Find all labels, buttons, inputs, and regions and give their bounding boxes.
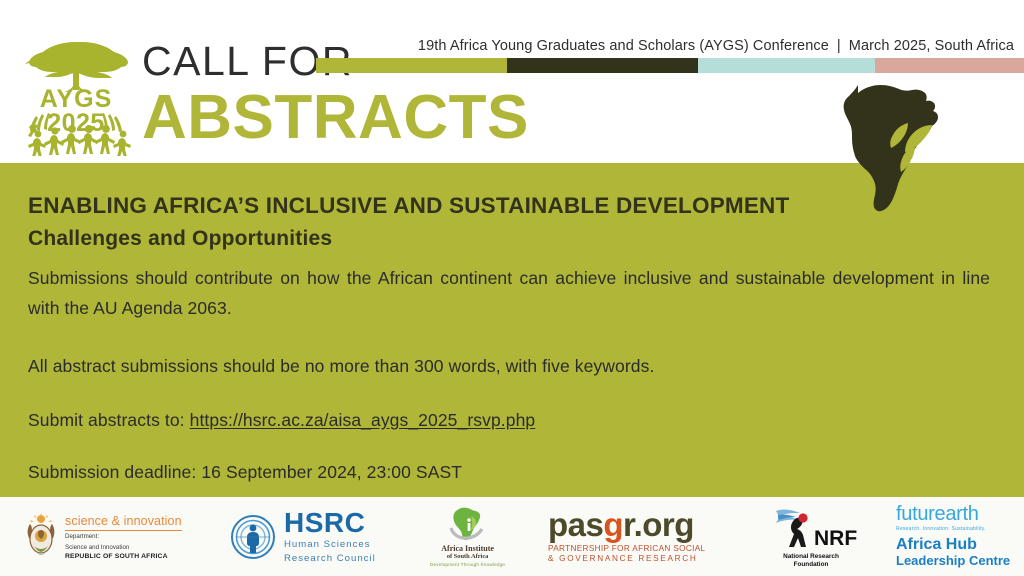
- page-subtitle: Challenges and Opportunities: [28, 227, 332, 251]
- submit-label: Submit abstracts to:: [28, 410, 190, 430]
- conference-separator: |: [829, 38, 849, 54]
- aygs-logo-svg: AYGS 2025: [14, 28, 138, 156]
- partner-logo-row: science & innovation Department: Science…: [0, 497, 1024, 576]
- dsi-wordmark: science & innovation: [65, 515, 182, 531]
- svg-text:NRF: NRF: [814, 527, 857, 550]
- logo-hsrc: HSRC Human Sciences Research Council: [230, 497, 376, 576]
- logo-nrf: NRF National Research Foundation: [762, 497, 860, 576]
- logo-future-earth: futurearth Research. Innovation. Sustain…: [896, 497, 1010, 576]
- nrf-emblem-icon: NRF: [762, 505, 860, 553]
- dsi-department-line1: Department:: [65, 533, 182, 541]
- colorbar-segment-dusty-pink: [875, 58, 1024, 73]
- hsrc-name-line1: Human Sciences: [284, 539, 376, 551]
- pasgr-wordmark-org: .org: [634, 506, 694, 543]
- hsrc-name-line2: Research Council: [284, 553, 376, 565]
- logo-aisa: Africa Institute of South Africa Develop…: [430, 497, 505, 576]
- footer-band: science & innovation Department: Science…: [0, 497, 1024, 576]
- colorbar-segment-pale-teal: [698, 58, 875, 73]
- pasgr-tagline-line2: & GOVERNANCE RESEARCH: [548, 554, 697, 563]
- aisa-africa-icon: [443, 506, 493, 542]
- deadline-line: Submission deadline: 16 September 2024, …: [28, 457, 928, 487]
- conference-name: 19th Africa Young Graduates and Scholars…: [418, 38, 829, 54]
- page-title: ENABLING AFRICA’S INCLUSIVE AND SUSTAINA…: [28, 193, 789, 219]
- submission-url-link[interactable]: https://hsrc.ac.za/aisa_aygs_2025_rsvp.p…: [190, 410, 536, 430]
- africa-map-svg: [836, 73, 986, 218]
- colorbar-segment-dark-olive: [507, 58, 698, 73]
- future-earth-tagline: Research. Innovation. Sustainability.: [896, 526, 986, 532]
- abstracts-text: ABSTRACTS: [142, 86, 562, 150]
- headline-block: CALL FOR ABSTRACTS: [142, 38, 562, 150]
- pasgr-tagline-line1: PARTNERSHIP FOR AFRICAN SOCIAL: [548, 544, 705, 553]
- aisa-tagline: Development Through Knowledge: [430, 562, 505, 567]
- submit-line: Submit abstracts to: https://hsrc.ac.za/…: [28, 405, 928, 435]
- aygs-logo: AYGS 2025: [14, 28, 138, 156]
- paragraph-wordlimit: All abstract submissions should be no mo…: [28, 351, 928, 381]
- africa-map-icon: [836, 73, 986, 218]
- conference-line: 19th Africa Young Graduates and Scholars…: [314, 38, 1014, 54]
- colorbar-segment-olive: [316, 58, 507, 73]
- nrf-name-line1: National Research: [783, 553, 839, 560]
- hsrc-acronym: HSRC: [284, 509, 376, 537]
- future-earth-wordmark: futurearth: [896, 504, 979, 524]
- paragraph-scope: Submissions should contribute on how the…: [28, 263, 990, 323]
- future-earth-hub-line1: Africa Hub: [896, 536, 977, 554]
- pasgr-wordmark-r: r: [623, 506, 634, 543]
- dsi-department-line2: Science and Innovation: [65, 544, 182, 552]
- dsi-republic-line: REPUBLIC OF SOUTH AFRICA: [65, 553, 182, 560]
- conference-date-location: March 2025, South Africa: [849, 38, 1014, 54]
- pasgr-wordmark-pas: pas: [548, 506, 603, 543]
- nrf-name-line2: Foundation: [794, 561, 829, 568]
- logo-dsi: science & innovation Department: Science…: [24, 497, 182, 576]
- aisa-name-line1: Africa Institute: [430, 544, 505, 553]
- poster-canvas: AYGS 2025: [0, 0, 1024, 576]
- header-colorbar: [316, 58, 1024, 73]
- pasgr-wordmark-g: g: [603, 506, 623, 543]
- hsrc-emblem-icon: [230, 514, 276, 560]
- future-earth-hub-line2: Leadership Centre: [896, 554, 1010, 569]
- pasgr-wordmark: pasgr.org: [548, 510, 694, 540]
- south-africa-coat-of-arms-icon: [24, 512, 58, 560]
- logo-pasgr: pasgr.org PARTNERSHIP FOR AFRICAN SOCIAL…: [548, 497, 705, 576]
- aisa-name-line2: of South Africa: [430, 553, 505, 560]
